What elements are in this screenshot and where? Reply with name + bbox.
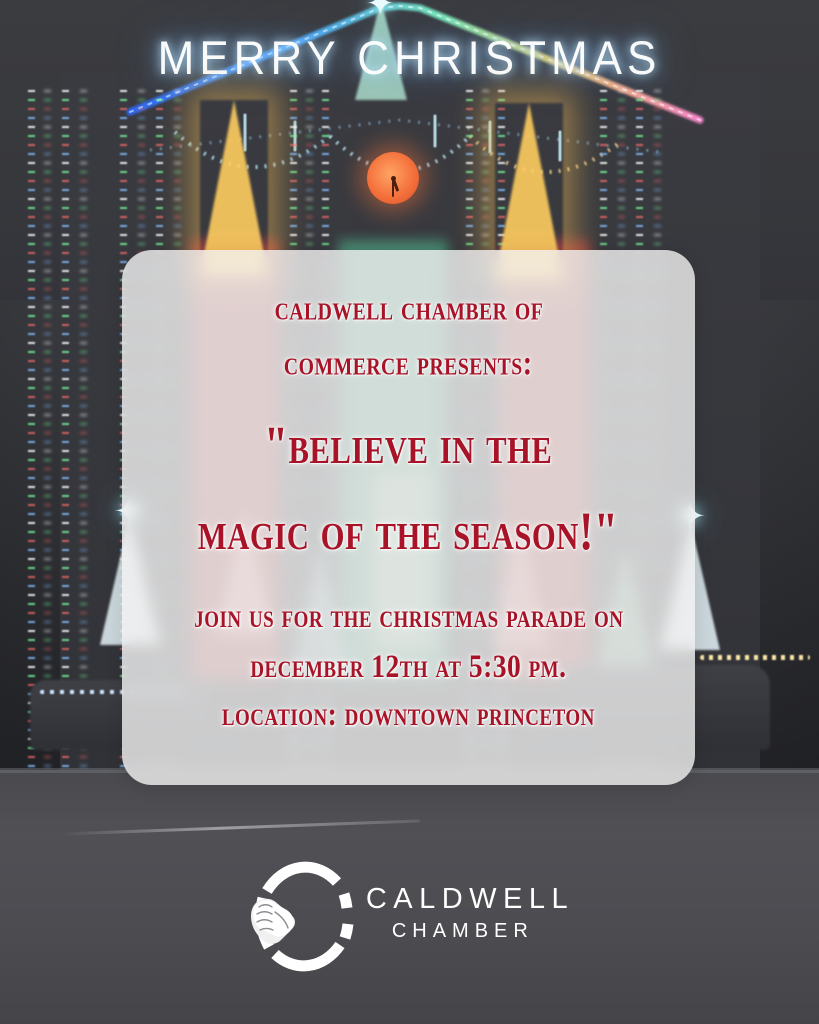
light-string xyxy=(44,90,51,780)
light-string xyxy=(80,90,87,780)
poster-canvas: ✦ MERRY CHRISTMAS xyxy=(0,0,819,1024)
merry-christmas-lights-text: MERRY CHRISTMAS xyxy=(0,32,819,86)
headline-line-1: "Believe in the xyxy=(264,419,552,474)
event-detail-line-1: Join us for the Christmas Parade on xyxy=(194,601,623,635)
handshake-in-circle-icon xyxy=(245,846,360,981)
event-detail-line-2: December 12th at 5:30 PM. xyxy=(250,650,566,684)
gold-cone-tree-left xyxy=(200,100,268,275)
presenter-line-1: Caldwell Chamber of xyxy=(274,292,543,327)
headline-line-2: Magic of the Season!" xyxy=(198,504,619,559)
announcement-card: Caldwell Chamber of Commerce presents: "… xyxy=(122,250,695,785)
logo-name-text: CALDWELL xyxy=(366,884,574,914)
peak-star-icon: ✦ xyxy=(366,0,395,22)
storefront-light-strip xyxy=(700,655,810,660)
event-detail-line-3: Location: Downtown Princeton xyxy=(222,699,595,733)
light-string xyxy=(28,90,35,780)
logo-subname-text: CHAMBER xyxy=(392,921,574,942)
presenter-line-2: Commerce presents: xyxy=(284,346,533,381)
light-string xyxy=(62,90,69,780)
caldwell-chamber-logo: CALDWELL CHAMBER xyxy=(0,838,819,988)
